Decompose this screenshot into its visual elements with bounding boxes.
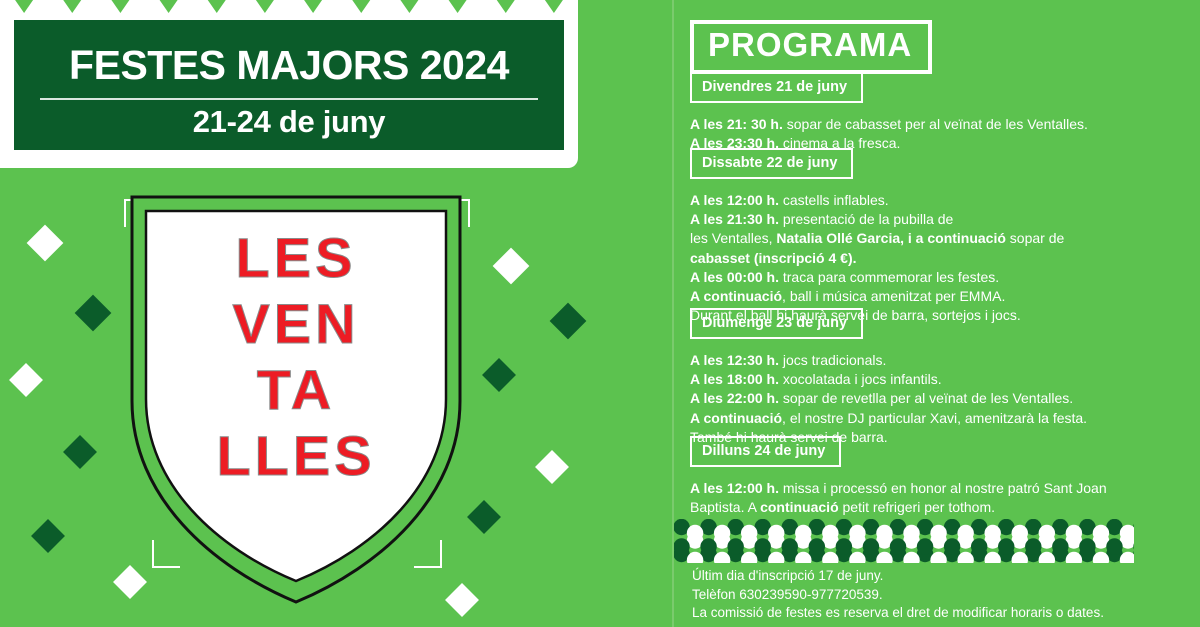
event-line: A les 21: 30 h. sopar de cabasset per al… [690,115,1190,134]
program-day-block-1: Divendres 21 de junyA les 21: 30 h. sopa… [690,72,1190,153]
dot [809,538,825,554]
day-label-chip: Divendres 21 de juny [690,72,863,103]
diamond-decoration-7 [493,248,530,285]
dot [944,538,960,554]
dot [755,538,771,554]
dot [1012,525,1028,541]
dot [741,525,757,541]
dot [714,525,730,541]
day-event-lines: A les 12:00 h. missa i processó en honor… [690,479,1190,517]
event-text: petit refrigeri per tothom. [839,499,995,515]
diamond-decoration-5 [31,519,65,553]
event-emphasis-text: A continuació [690,410,782,426]
event-line: A les 18:00 h. xocolatada i jocs infanti… [690,370,1190,389]
event-text: , el nostre DJ particular Xavi, amenitza… [782,410,1087,426]
event-text: missa i processó en honor al nostre patr… [779,480,1107,496]
shield-letter-row-1: LES [128,225,464,290]
dot [1066,525,1082,541]
event-text: Baptista. A [690,499,760,515]
event-emphasis-text: A les 00:00 h. [690,269,779,285]
event-emphasis-text: A les 12:00 h. [690,480,779,496]
dot-pattern-decoration [674,519,1134,563]
dot [985,525,1001,541]
dot [917,538,933,554]
dot [768,525,784,541]
diamond-decoration-3 [9,363,43,397]
event-emphasis-text: cabasset (inscripció 4 €). [690,250,857,266]
program-day-block-3: Diumenge 23 de junyA les 12:30 h. jocs t… [690,308,1190,447]
shield-letter-row-2: VEN [128,291,464,356]
shield-letter-row-4: LLES [128,423,464,488]
event-line: A les 12:30 h. jocs tradicionals. [690,351,1190,370]
festival-poster: FESTES MAJORS 2024 21-24 de juny [0,0,1200,627]
event-line: A continuació, ball i música amenitzat p… [690,287,1190,306]
diamond-decoration-1 [27,225,64,262]
footer-note-line-3: La comissió de festes es reserva el dret… [692,604,1192,623]
event-line: les Ventalles, Natalia Ollé Garcia, i a … [690,229,1190,248]
dot [822,525,838,541]
event-text: les Ventalles, [690,230,776,246]
event-emphasis-text: A les 12:00 h. [690,192,779,208]
event-line: A continuació, el nostre DJ particular X… [690,409,1190,428]
dot [1106,538,1122,554]
dot [1079,538,1095,554]
event-line: A les 12:00 h. castells inflables. [690,191,1190,210]
event-emphasis-text: A les 18:00 h. [690,371,779,387]
event-line: A les 00:00 h. traca para commemorar les… [690,268,1190,287]
event-emphasis-text: A les 12:30 h. [690,352,779,368]
event-line: cabasset (inscripció 4 €). [690,249,1190,268]
event-text: sopar de revetlla per al veïnat de les V… [779,390,1073,406]
footer-note-line-1: Últim dia d'inscripció 17 de juny. [692,567,1192,586]
program-heading-text: PROGRAMA [708,26,912,64]
footer-notes: Últim dia d'inscripció 17 de juny.Telèfo… [692,567,1192,623]
dot [1025,538,1041,554]
title-divider-rule [40,98,538,100]
dot [876,525,892,541]
program-day-block-4: Dilluns 24 de junyA les 12:00 h. missa i… [690,436,1190,517]
event-text: , ball i música amenitzat per EMMA. [782,288,1005,304]
program-panel: PROGRAMA Divendres 21 de junyA les 21: 3… [674,0,1200,627]
event-text: presentació de la pubilla de [779,211,953,227]
dot [849,525,865,541]
page-title: FESTES MAJORS 2024 [14,42,564,89]
footer-note-line-2: Telèfon 630239590-977720539. [692,586,1192,605]
event-text: traca para commemorar les festes. [779,269,999,285]
diamond-decoration-4 [63,435,97,469]
dot [1052,538,1068,554]
day-label-chip: Dissabte 22 de juny [690,148,853,179]
diamond-decoration-2 [75,295,112,332]
event-text: sopar de cabasset per al veïnat de les V… [783,116,1088,132]
title-banner: FESTES MAJORS 2024 21-24 de juny [14,20,564,150]
dot [971,538,987,554]
dot [1093,525,1109,541]
dot [687,525,703,541]
dot [674,538,690,554]
dot [782,538,798,554]
left-panel: FESTES MAJORS 2024 21-24 de juny [0,0,672,627]
event-text: xocolatada i jocs infantils. [779,371,942,387]
dot [727,538,743,554]
dot [890,538,906,554]
event-emphasis-text: A les 21: 30 h. [690,116,783,132]
event-line: A les 22:00 h. sopar de revetlla per al … [690,389,1190,408]
event-text: castells inflables. [779,192,889,208]
diamond-decoration-11 [467,500,501,534]
dot [930,525,946,541]
day-event-lines: A les 12:00 h. castells inflables.A les … [690,191,1190,325]
event-line: Baptista. A continuació petit refrigeri … [690,498,1190,517]
shield-letter-row-3: TA [128,357,464,422]
event-text: sopar de [1006,230,1064,246]
day-label-chip: Diumenge 23 de juny [690,308,863,339]
dot [903,525,919,541]
event-emphasis-text: Natalia Ollé Garcia, i a continuació [776,230,1006,246]
dot [700,538,716,554]
dot [957,525,973,541]
event-emphasis-text: A les 22:00 h. [690,390,779,406]
date-range-subtitle: 21-24 de juny [14,104,564,140]
event-emphasis-text: A les 21:30 h. [690,211,779,227]
zigzag-edge-decoration [0,0,578,14]
event-text: jocs tradicionals. [779,352,886,368]
event-emphasis-text: continuació [760,499,839,515]
diamond-decoration-9 [482,358,516,392]
event-line: A les 12:00 h. missa i processó en honor… [690,479,1190,498]
event-emphasis-text: A continuació [690,288,782,304]
dot [1039,525,1055,541]
day-event-lines: A les 12:30 h. jocs tradicionals.A les 1… [690,351,1190,447]
dot [863,538,879,554]
dot [795,525,811,541]
dot [836,538,852,554]
event-line: A les 21:30 h. presentació de la pubilla… [690,210,1190,229]
program-heading-box: PROGRAMA [690,20,932,74]
day-label-chip: Dilluns 24 de juny [690,436,841,467]
program-day-block-2: Dissabte 22 de junyA les 12:00 h. castel… [690,148,1190,325]
avatar: LES VEN TA LLES [128,193,464,605]
diamond-decoration-8 [550,303,587,340]
dot [998,538,1014,554]
diamond-decoration-10 [535,450,569,484]
